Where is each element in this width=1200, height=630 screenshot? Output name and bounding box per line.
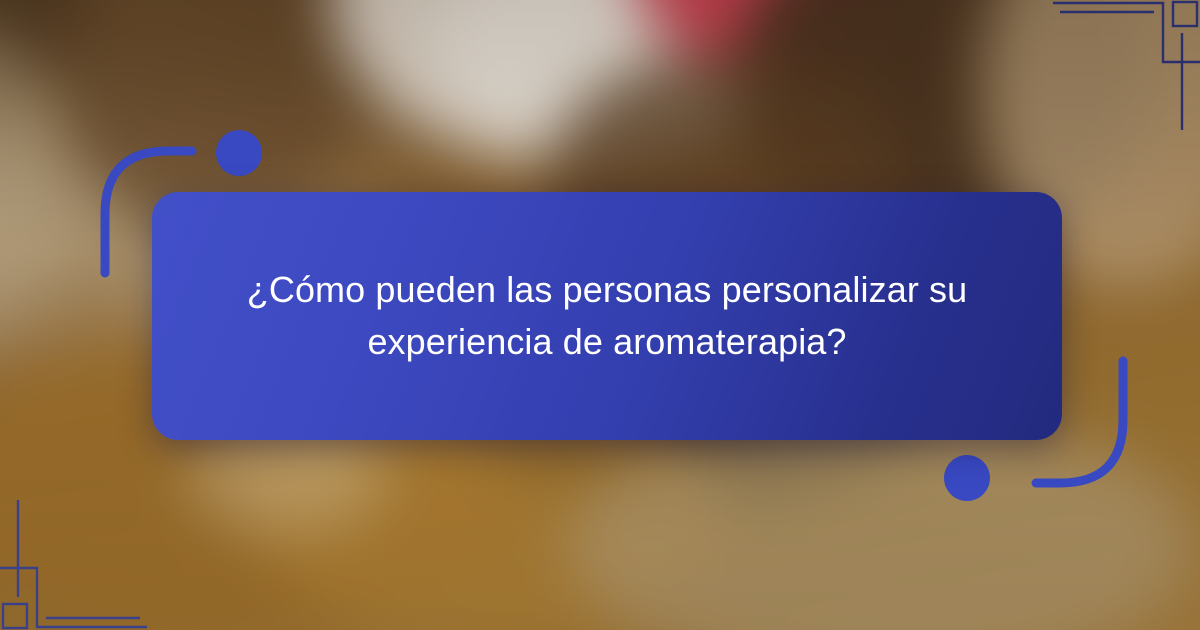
social-card-canvas: ¿Cómo pueden las personas personalizar s… (0, 0, 1200, 630)
page-title: ¿Cómo pueden las personas personalizar s… (188, 264, 1026, 368)
title-card: ¿Cómo pueden las personas personalizar s… (152, 192, 1062, 440)
accent-dot-top-left-icon (216, 130, 262, 176)
accent-dot-bottom-right-icon (944, 455, 990, 501)
